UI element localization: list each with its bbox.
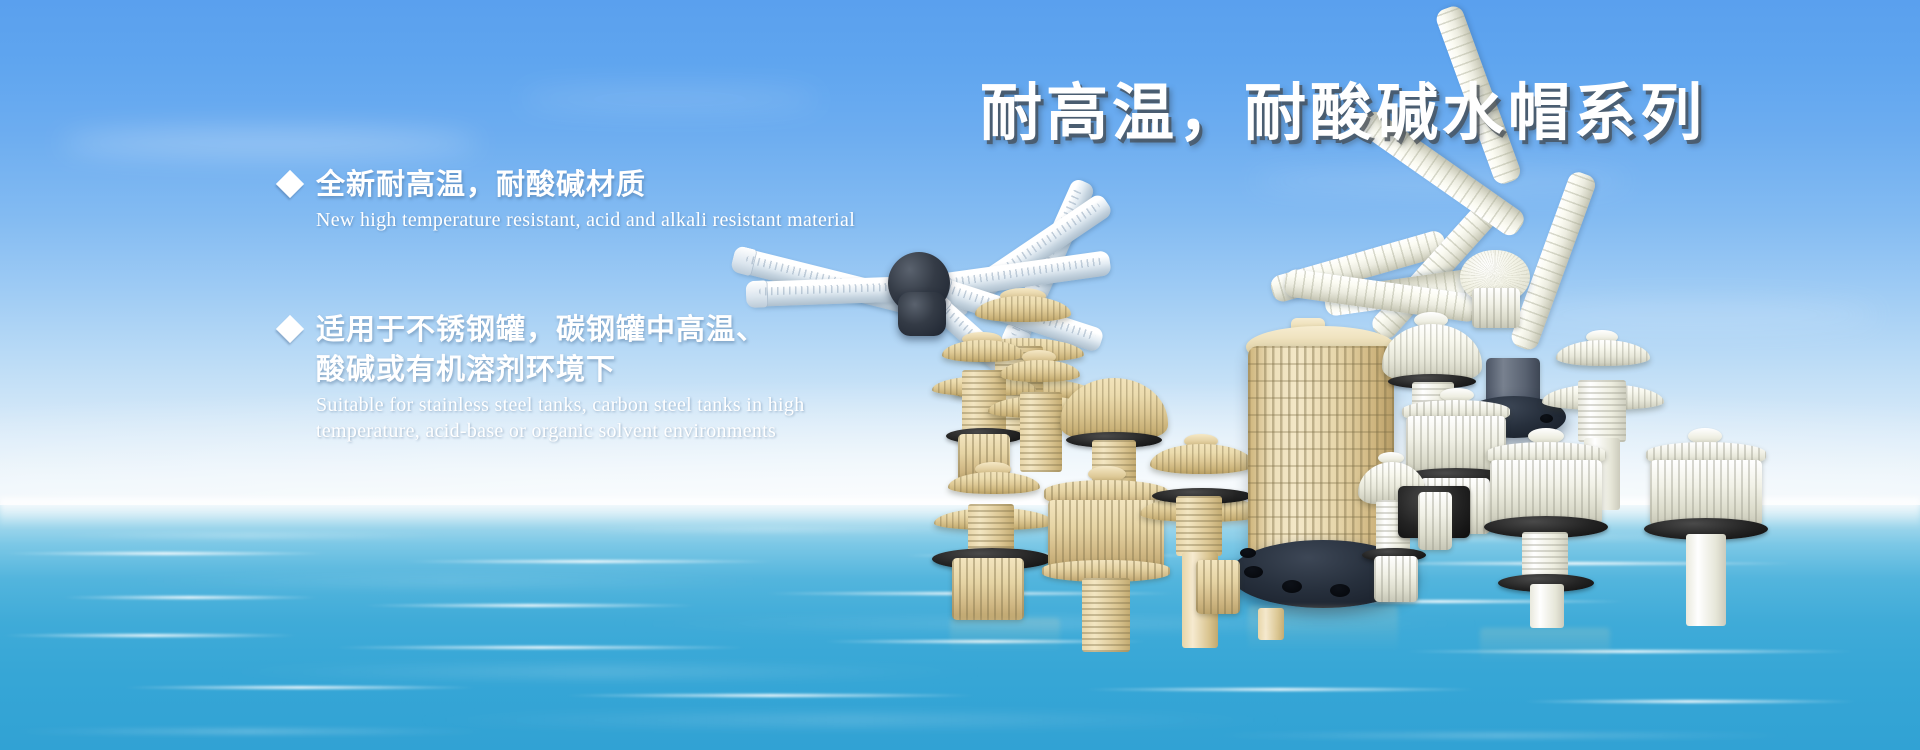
water-reflection [950,618,1060,652]
bullet-2-cn-line2: 酸碱或有机溶剂环境下 [316,350,805,390]
page-title: 耐高温，耐酸碱水帽系列 [980,62,1706,152]
bullet-1-cn: 全新耐高温，耐酸碱材质 [316,165,646,205]
diamond-icon [276,315,304,343]
banner-stage: 耐高温，耐酸碱水帽系列 全新耐高温，耐酸碱材质 New high tempera… [0,0,1920,750]
flange-bolt-hole [1244,566,1263,578]
flange-bolt-hole [1282,580,1302,593]
corrugated-hub-barrel [1472,288,1520,328]
feature-bullet-2: 适用于不锈钢罐，碳钢罐中高温、 酸碱或有机溶剂环境下 Suitable for … [280,310,805,444]
diamond-icon [276,170,304,198]
water-reflection [1248,606,1398,652]
lateral-hub-lower [898,292,946,336]
bullet-2-cn-line1: 适用于不锈钢罐，碳钢罐中高温、 [316,310,766,350]
flange-bolt-hole [1540,414,1553,423]
bullet-1-en: New high temperature resistant, acid and… [316,207,855,233]
feature-bullet-1: 全新耐高温，耐酸碱材质 New high temperature resista… [280,165,855,233]
flange-bolt-hole [1330,584,1350,597]
bullet-2-en-line1: Suitable for stainless steel tanks, carb… [316,392,805,418]
nozzle-fragment [1196,560,1240,614]
water-reflection [1480,628,1610,662]
strainer-nozzle [0,0,68,42]
flange-bolt-hole [1240,548,1256,558]
nozzle-insert [1418,492,1452,550]
bullet-2-en-line2: temperature, acid-base or organic solven… [316,418,805,444]
